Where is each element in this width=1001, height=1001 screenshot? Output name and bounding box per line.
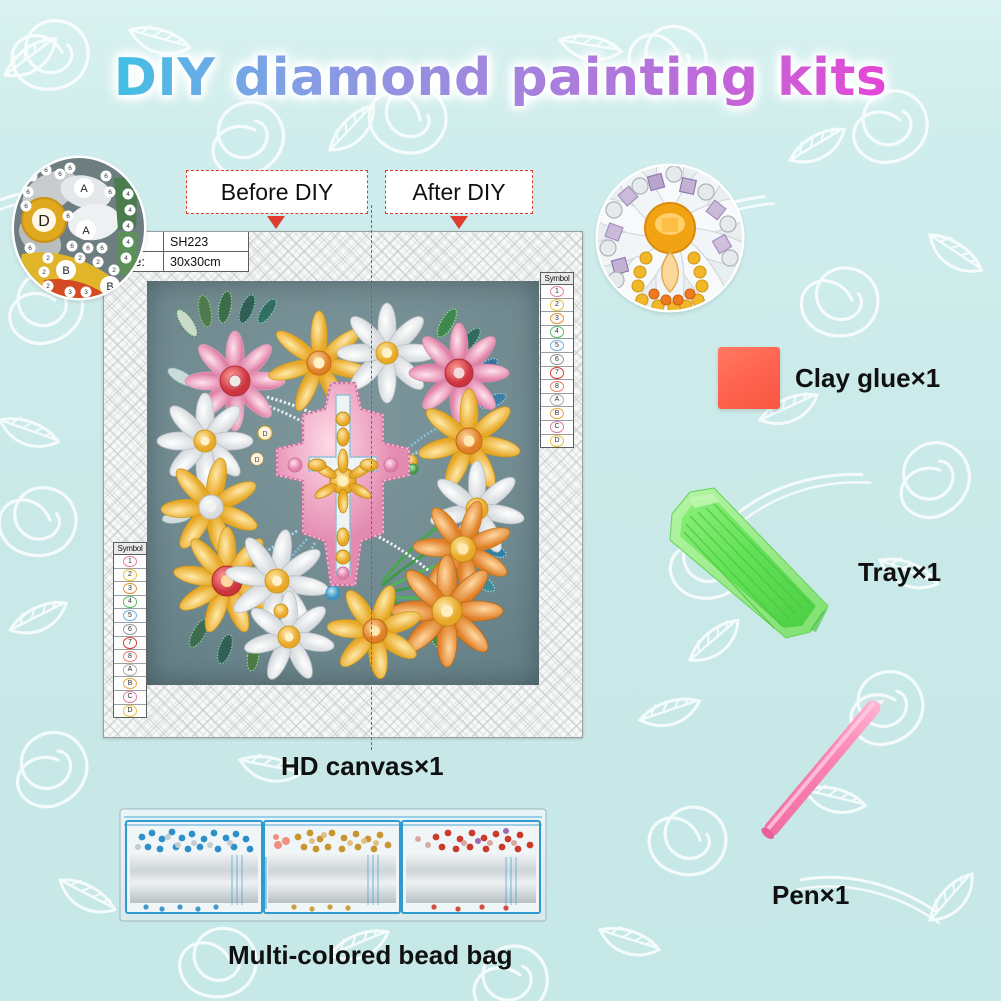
symbol-row: 3 xyxy=(541,312,573,326)
svg-text:6: 6 xyxy=(26,189,30,196)
svg-text:D: D xyxy=(38,213,50,230)
svg-text:D: D xyxy=(254,457,259,464)
symbol-marker: 8 xyxy=(123,651,137,663)
before-magnifier-circle: D A A B B 6 6 6 6 6 6 6 6 6 6 6 6 xyxy=(14,158,144,298)
symbol-row: 6 xyxy=(541,353,573,367)
infographic-root: DIY diamond painting kits Before DIY Aft… xyxy=(0,0,1001,1001)
bead-bag-svg xyxy=(118,805,548,925)
symbol-row: 4 xyxy=(114,596,146,610)
svg-text:6: 6 xyxy=(24,203,28,210)
symbol-row: D xyxy=(114,705,146,718)
symbol-row: C xyxy=(541,421,573,435)
symbol-marker: B xyxy=(550,408,564,420)
svg-text:6: 6 xyxy=(70,243,74,250)
svg-text:4: 4 xyxy=(124,255,128,262)
after-pointer-icon xyxy=(450,216,468,229)
symbol-marker: 4 xyxy=(123,596,137,608)
symbol-row: 8 xyxy=(541,380,573,394)
svg-text:4: 4 xyxy=(128,207,132,214)
symbol-row: A xyxy=(114,664,146,678)
svg-text:6: 6 xyxy=(66,213,70,220)
symbol-marker: 1 xyxy=(550,286,564,298)
symbol-marker: 4 xyxy=(550,326,564,338)
before-magnifier-art: D A A B B 6 6 6 6 6 6 6 6 6 6 6 6 xyxy=(14,158,144,298)
before-after-divider xyxy=(371,205,372,750)
svg-text:6: 6 xyxy=(30,173,34,180)
symbol-marker: 6 xyxy=(123,624,137,636)
svg-text:6: 6 xyxy=(86,245,90,252)
symbol-row: A xyxy=(541,394,573,408)
symbol-legend-left: Symbol 12345678ABCD xyxy=(113,542,147,718)
pen-image xyxy=(660,700,930,900)
tray-svg xyxy=(660,480,840,655)
before-pointer-icon xyxy=(267,216,285,229)
svg-text:2: 2 xyxy=(112,267,116,274)
svg-text:3: 3 xyxy=(68,289,72,296)
symbol-row: 7 xyxy=(114,637,146,651)
symbol-legend-rows: 12345678ABCD xyxy=(541,285,573,447)
bead-bag-image xyxy=(118,805,548,925)
after-magnifier-circle xyxy=(598,166,742,310)
symbol-row: 4 xyxy=(541,326,573,340)
svg-text:4: 4 xyxy=(126,223,130,230)
symbol-row: 5 xyxy=(114,609,146,623)
symbol-row: 3 xyxy=(114,582,146,596)
symbol-row: 1 xyxy=(541,285,573,299)
symbol-legend-right: Symbol 12345678ABCD xyxy=(540,272,574,448)
symbol-row: 2 xyxy=(114,569,146,583)
hd-canvas-label: HD canvas×1 xyxy=(281,751,444,782)
svg-text:2: 2 xyxy=(78,255,82,262)
svg-text:2: 2 xyxy=(42,269,46,276)
svg-text:2: 2 xyxy=(46,283,50,290)
pen-svg xyxy=(660,700,930,900)
symbol-marker: 5 xyxy=(550,340,564,352)
item-value: SH223 xyxy=(164,235,248,249)
symbol-row: B xyxy=(114,677,146,691)
symbol-row: 7 xyxy=(541,367,573,381)
after-magnifier-art xyxy=(598,166,742,310)
symbol-row: 5 xyxy=(541,339,573,353)
symbol-row: C xyxy=(114,691,146,705)
svg-text:6: 6 xyxy=(104,173,108,180)
symbol-marker: D xyxy=(123,705,137,717)
svg-text:A: A xyxy=(80,183,88,195)
svg-text:A: A xyxy=(82,225,90,237)
svg-text:6: 6 xyxy=(58,171,62,178)
symbol-marker: 1 xyxy=(123,556,137,568)
symbol-row: 6 xyxy=(114,623,146,637)
page-title: DIY diamond painting kits xyxy=(0,48,1001,108)
clay-glue-label: Clay glue×1 xyxy=(795,363,940,394)
symbol-row: 2 xyxy=(541,299,573,313)
symbol-marker: 3 xyxy=(123,583,137,595)
symbol-marker: 2 xyxy=(123,569,137,581)
symbol-marker: 5 xyxy=(123,610,137,622)
symbol-marker: 6 xyxy=(550,354,564,366)
symbol-marker: A xyxy=(550,394,564,406)
svg-text:B: B xyxy=(62,265,69,277)
bead-bag-label: Multi-colored bead bag xyxy=(228,940,513,971)
symbol-marker: C xyxy=(550,421,564,433)
symbol-marker: 2 xyxy=(550,299,564,311)
clay-glue-swatch xyxy=(718,347,780,409)
symbol-row: D xyxy=(541,435,573,448)
svg-text:4: 4 xyxy=(126,191,130,198)
symbol-row: 1 xyxy=(114,555,146,569)
svg-text:2: 2 xyxy=(96,259,100,266)
symbol-legend-header: Symbol xyxy=(114,543,146,555)
svg-text:3: 3 xyxy=(84,289,88,296)
symbol-row: 8 xyxy=(114,650,146,664)
symbol-marker: D xyxy=(550,435,564,447)
artwork-svg: D D xyxy=(147,281,539,685)
svg-text:6: 6 xyxy=(28,245,32,252)
tray-label: Tray×1 xyxy=(858,557,941,588)
hd-canvas-frame: D D Item: SH223 Size: 30x30cm Symbol 123… xyxy=(103,231,583,738)
symbol-marker: C xyxy=(123,691,137,703)
size-value: 30x30cm xyxy=(164,255,248,269)
before-diy-label: Before DIY xyxy=(186,170,368,214)
after-diy-label: After DIY xyxy=(385,170,533,214)
symbol-marker: A xyxy=(123,664,137,676)
tray-image xyxy=(660,480,840,655)
symbol-marker: 8 xyxy=(550,381,564,393)
symbol-marker: B xyxy=(123,678,137,690)
symbol-legend-rows: 12345678ABCD xyxy=(114,555,146,717)
svg-text:6: 6 xyxy=(100,245,104,252)
symbol-marker: 3 xyxy=(550,313,564,325)
symbol-legend-header: Symbol xyxy=(541,273,573,285)
svg-text:4: 4 xyxy=(126,239,130,246)
svg-text:6: 6 xyxy=(44,167,48,174)
symbol-row: B xyxy=(541,407,573,421)
svg-text:2: 2 xyxy=(46,255,50,262)
svg-text:6: 6 xyxy=(108,189,112,196)
pen-label: Pen×1 xyxy=(772,880,849,911)
symbol-marker: 7 xyxy=(123,637,137,649)
svg-text:6: 6 xyxy=(68,165,72,172)
artwork-canvas: D D xyxy=(147,281,539,685)
symbol-marker: 7 xyxy=(550,367,564,379)
svg-text:D: D xyxy=(262,431,267,438)
